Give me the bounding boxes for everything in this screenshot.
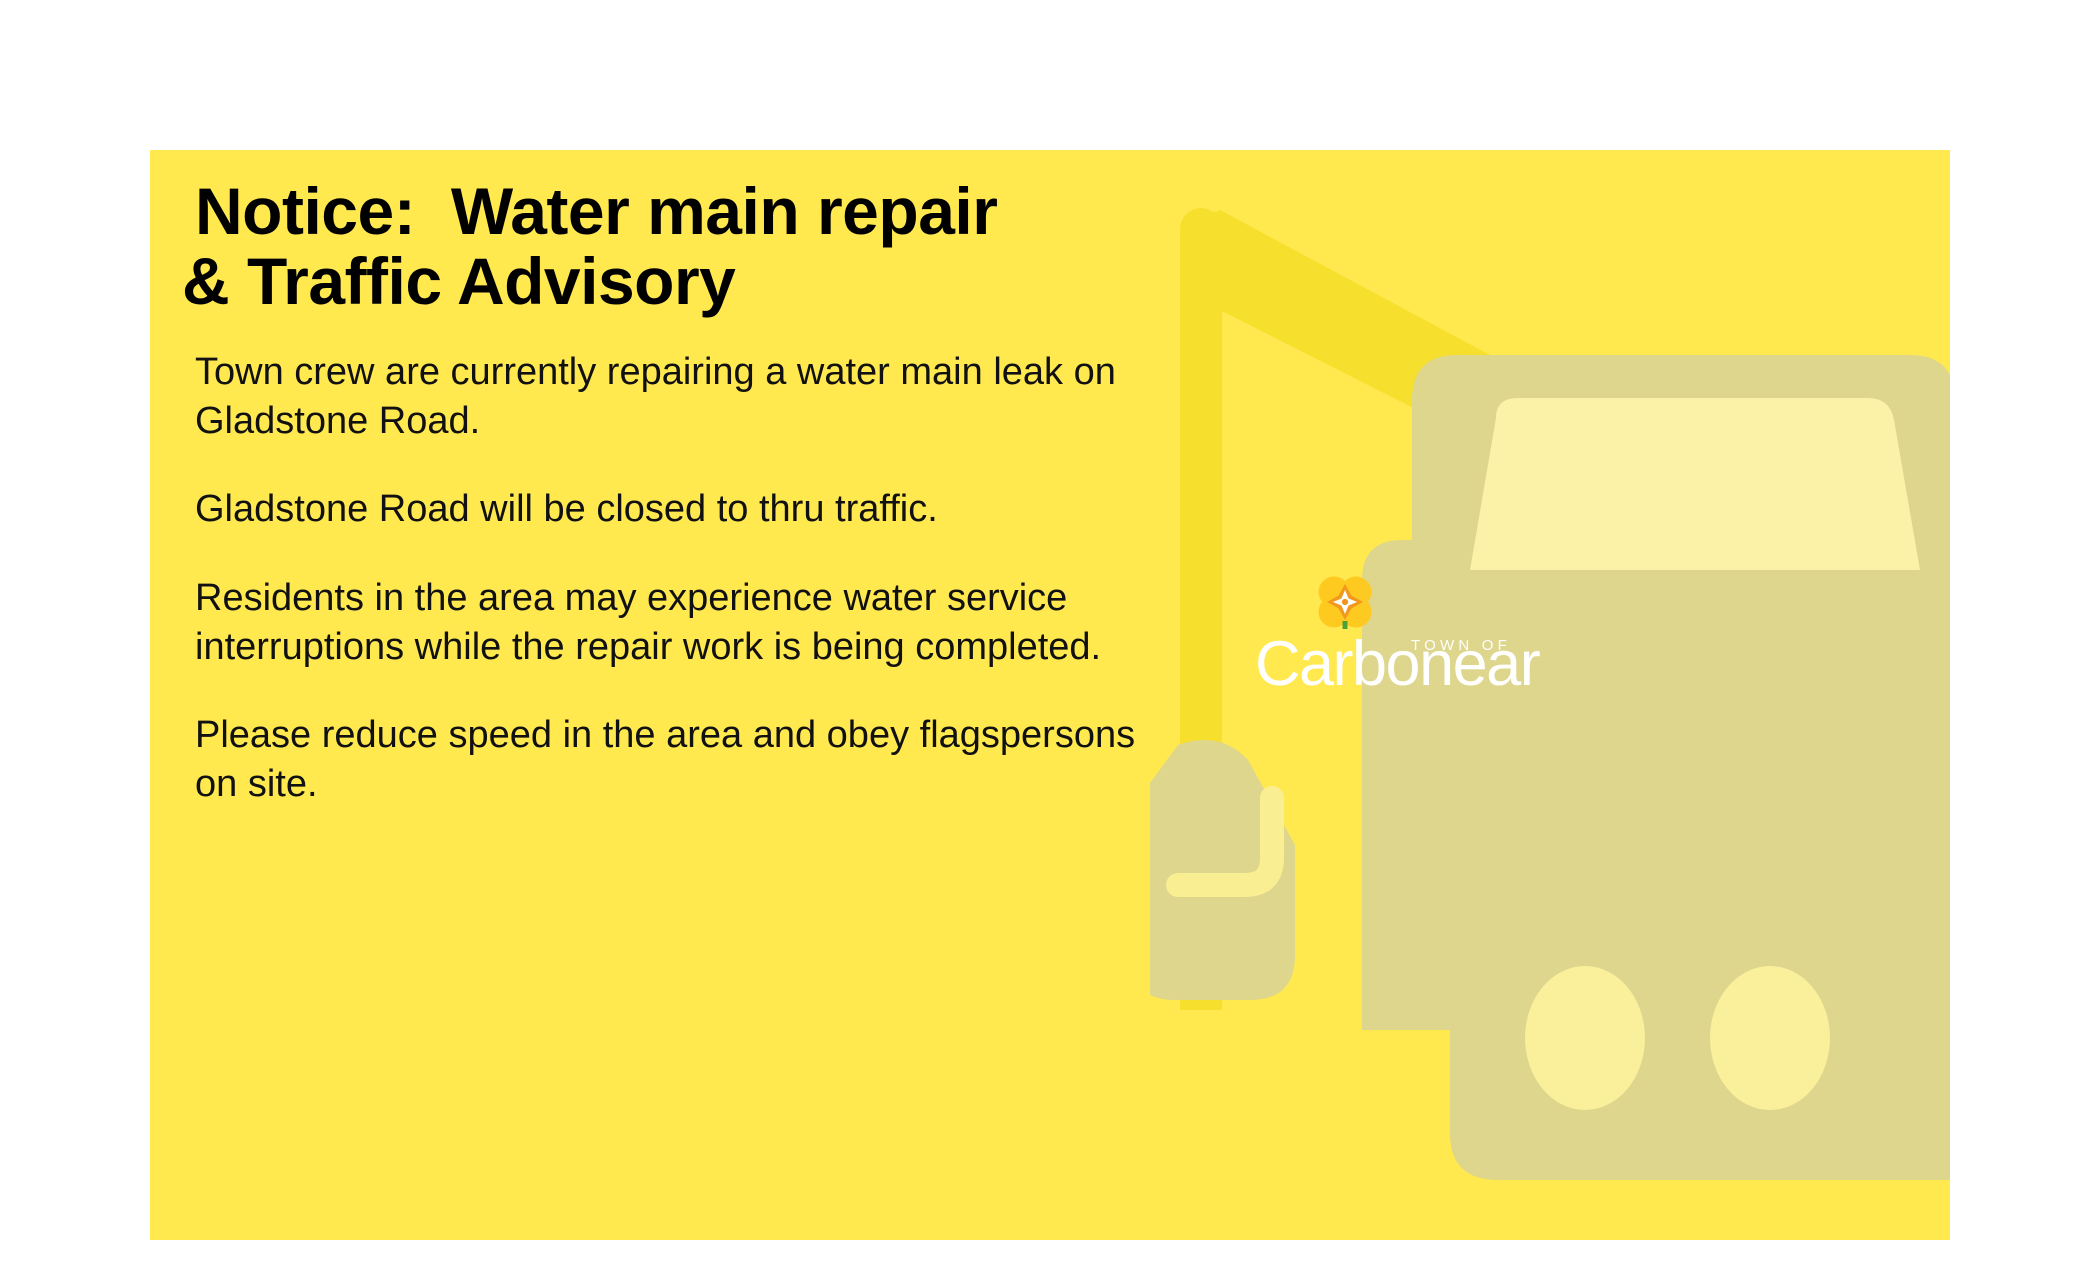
- excavator-wheel-right: [1710, 966, 1830, 1110]
- excavator-wheel-left: [1525, 966, 1645, 1110]
- notice-paragraph-2: Gladstone Road will be closed to thru tr…: [195, 485, 1315, 534]
- excavator-chassis: [1450, 868, 1950, 1180]
- notice-title-line-1: Notice: Water main repair: [195, 175, 997, 249]
- notice-text-column: Notice: Water main repair & Traffic Advi…: [150, 150, 1340, 1240]
- notice-graphic: TOWN OF Carbonear Notice: Water main rep…: [0, 0, 2100, 1275]
- notice-body: Town crew are currently repairing a wate…: [195, 348, 1315, 808]
- notice-paragraph-4: Please reduce speed in the area and obey…: [195, 711, 1315, 808]
- carbonear-logo: TOWN OF Carbonear: [1255, 575, 1555, 705]
- flower-emblem-icon: [1317, 575, 1373, 637]
- notice-paragraph-1: Town crew are currently repairing a wate…: [195, 348, 1315, 445]
- notice-title-line-2: & Traffic Advisory: [182, 245, 735, 319]
- notice-paragraph-3: Residents in the area may experience wat…: [195, 574, 1315, 671]
- logo-wordmark-text: Carbonear: [1255, 633, 1539, 696]
- notice-panel: TOWN OF Carbonear Notice: Water main rep…: [150, 150, 1950, 1240]
